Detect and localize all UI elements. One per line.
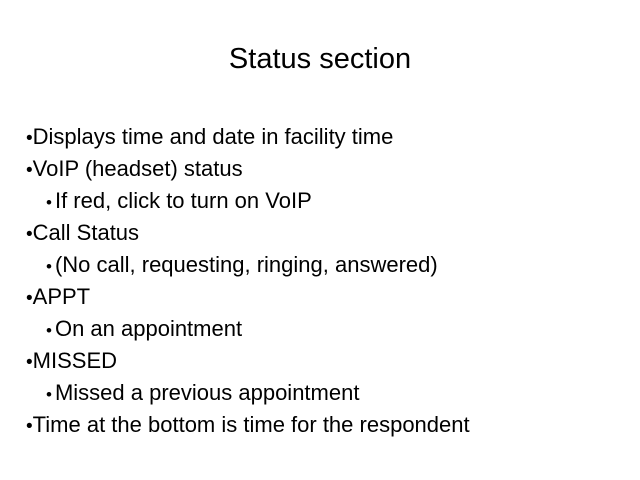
list-item: •APPT xyxy=(26,282,626,314)
bullet-icon: • xyxy=(26,412,33,442)
bullet-list: •Displays time and date in facility time… xyxy=(26,122,626,442)
bullet-icon: • xyxy=(46,380,52,410)
list-item-label: Call Status xyxy=(33,220,139,245)
bullet-icon: • xyxy=(46,252,52,282)
list-item-label: On an appointment xyxy=(55,316,242,341)
bullet-icon: • xyxy=(46,316,52,346)
list-item-label: APPT xyxy=(33,284,90,309)
bullet-icon: • xyxy=(26,348,33,378)
list-item-label: (No call, requesting, ringing, answered) xyxy=(55,252,438,277)
slide-canvas: Status section •Displays time and date i… xyxy=(0,0,640,480)
list-item-label: Time at the bottom is time for the respo… xyxy=(33,412,470,437)
list-item-label: Missed a previous appointment xyxy=(55,380,360,405)
bullet-icon: • xyxy=(26,220,33,250)
bullet-icon: • xyxy=(26,284,33,314)
list-item-label: Displays time and date in facility time xyxy=(33,124,394,149)
list-item-label: MISSED xyxy=(33,348,117,373)
list-item: •If red, click to turn on VoIP xyxy=(26,186,626,218)
list-item: •MISSED xyxy=(26,346,626,378)
list-item: •Call Status xyxy=(26,218,626,250)
bullet-icon: • xyxy=(46,188,52,218)
list-item-label: VoIP (headset) status xyxy=(33,156,243,181)
list-item: •Missed a previous appointment xyxy=(26,378,626,410)
bullet-icon: • xyxy=(26,124,33,154)
bullet-icon: • xyxy=(26,156,33,186)
page-title: Status section xyxy=(0,42,640,76)
list-item: •VoIP (headset) status xyxy=(26,154,626,186)
list-item: •On an appointment xyxy=(26,314,626,346)
list-item: •Displays time and date in facility time xyxy=(26,122,626,154)
list-item-label: If red, click to turn on VoIP xyxy=(55,188,312,213)
list-item: •(No call, requesting, ringing, answered… xyxy=(26,250,626,282)
list-item: •Time at the bottom is time for the resp… xyxy=(26,410,626,442)
